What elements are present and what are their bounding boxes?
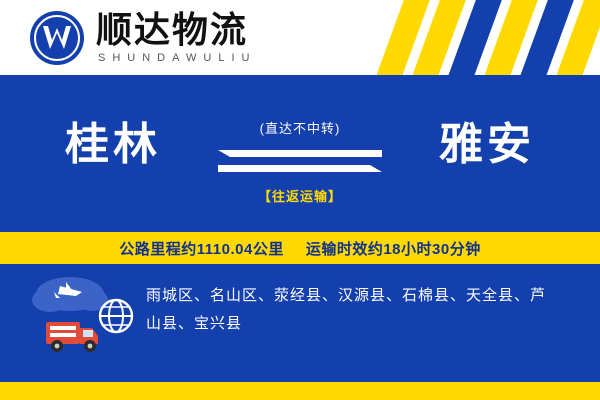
route-info-bar: 公路里程约1110.04公里 运输时效约18小时30分钟 (0, 232, 600, 264)
brand-name-en: SHUNDAWULIU (98, 52, 257, 64)
origin-city: 桂林 (18, 110, 208, 180)
company-logo-icon (30, 11, 84, 65)
duration-label: 运输时效约18小时30分钟 (306, 238, 481, 259)
roundtrip-note: 【往返运输】 (218, 186, 382, 205)
double-arrow-icon (210, 144, 390, 178)
logistics-route-poster: 顺达物流 SHUNDAWULIU (直达不中转) 桂林 雅安 【往返运输】 公路… (0, 0, 600, 400)
bottom-accent-bar (0, 382, 600, 400)
header-stripes (360, 0, 600, 75)
brand-name-cn: 顺达物流 (96, 11, 248, 49)
destination-city: 雅安 (392, 110, 582, 180)
logo-w-glyph (30, 11, 84, 65)
coverage-areas-text: 雨城区、名山区、荥经县、汉源县、石棉县、天全县、芦山县、宝兴县 (38, 282, 558, 338)
coverage-areas: 雨城区、名山区、荥经县、汉源县、石棉县、天全县、芦山县、宝兴县 (38, 282, 558, 338)
distance-label: 公路里程约1110.04公里 (119, 238, 284, 259)
poster-header: 顺达物流 SHUNDAWULIU (0, 0, 600, 75)
